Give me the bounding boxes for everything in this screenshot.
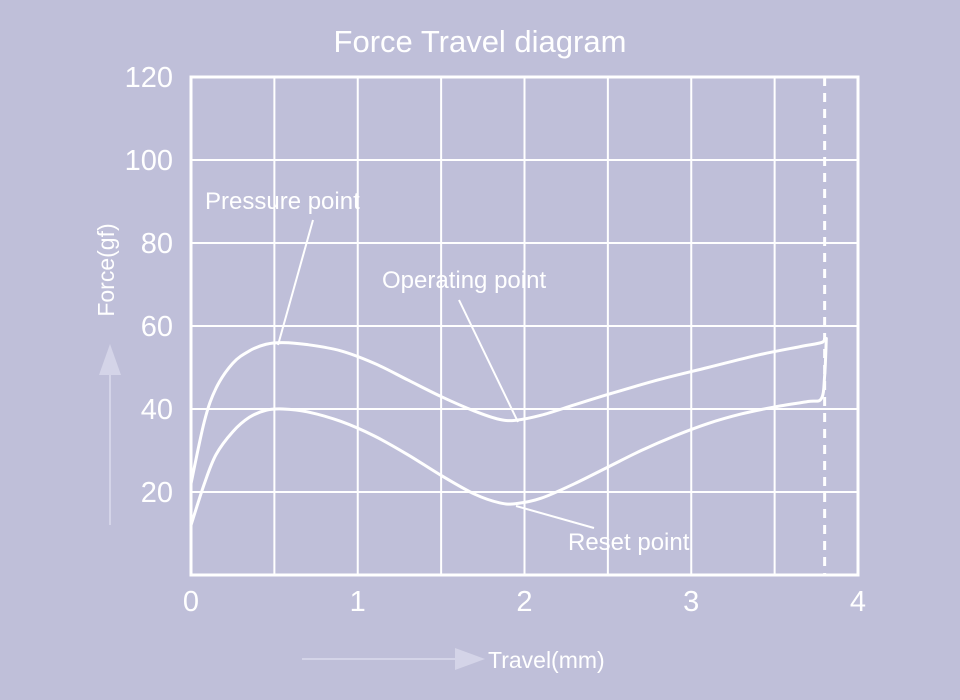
y-tick-label: 80 bbox=[141, 228, 173, 260]
x-tick-label: 2 bbox=[516, 586, 532, 618]
y-tick-label: 60 bbox=[141, 311, 173, 343]
force-travel-chart: Force Travel diagram 20406080100120 0123… bbox=[0, 0, 960, 700]
pressure-point-label: Pressure point bbox=[205, 188, 360, 215]
x-tick-label: 4 bbox=[850, 586, 866, 618]
chart-gridlines bbox=[191, 77, 858, 575]
y-tick-label: 20 bbox=[141, 477, 173, 509]
operating-point-leader-line bbox=[459, 300, 518, 422]
release-stroke-curve bbox=[191, 338, 826, 525]
y-tick-label: 120 bbox=[125, 62, 173, 94]
y-axis-title: Force(gf) bbox=[93, 223, 119, 316]
x-axis-title: Travel(mm) bbox=[488, 647, 605, 673]
x-tick-label: 0 bbox=[183, 586, 199, 618]
x-axis-tick-labels: 01234 bbox=[183, 586, 866, 618]
press-stroke-curve bbox=[191, 338, 825, 483]
y-tick-label: 100 bbox=[125, 145, 173, 177]
y-axis-direction-arrow bbox=[99, 344, 121, 525]
reset-point-leader-line bbox=[516, 506, 594, 528]
x-tick-label: 1 bbox=[350, 586, 366, 618]
x-tick-label: 3 bbox=[683, 586, 699, 618]
force-travel-diagram-page: Force Travel diagram 20406080100120 0123… bbox=[0, 0, 960, 700]
operating-point-label: Operating point bbox=[382, 267, 546, 294]
y-tick-label: 40 bbox=[141, 394, 173, 426]
x-axis-direction-arrow bbox=[302, 648, 485, 670]
y-axis-tick-labels: 20406080100120 bbox=[125, 62, 173, 509]
reset-point-label: Reset point bbox=[568, 529, 690, 556]
chart-title: Force Travel diagram bbox=[334, 24, 627, 59]
